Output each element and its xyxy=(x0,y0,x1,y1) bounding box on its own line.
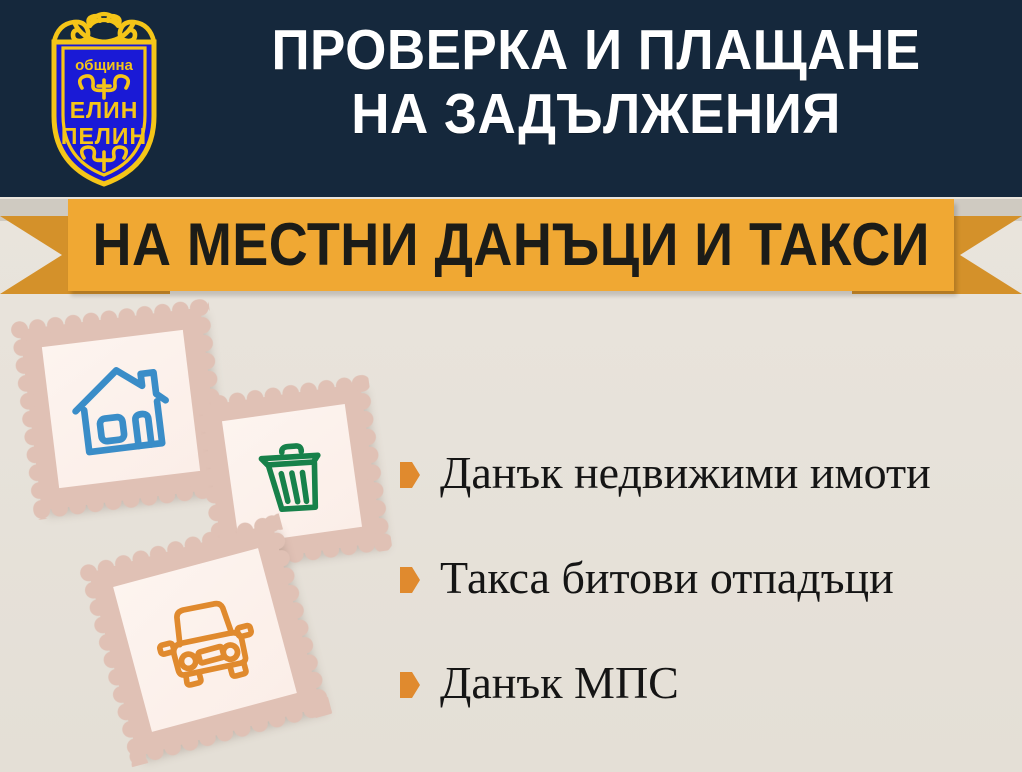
list-item-label: Данък недвижими имоти xyxy=(440,448,931,498)
bullet-arrow-icon xyxy=(400,462,420,488)
tax-type-list: Данък недвижими имоти Такса битови отпад… xyxy=(400,420,1010,735)
list-item[interactable]: Данък МПС xyxy=(400,630,1010,735)
list-item[interactable]: Данък недвижими имоти xyxy=(400,420,1010,525)
bullet-arrow-icon xyxy=(400,672,420,698)
stamp-card-property xyxy=(20,308,223,511)
stamp-card-vehicle xyxy=(89,524,322,757)
list-item-label: Такса битови отпадъци xyxy=(440,553,894,603)
crest-name-line1: ЕЛИН xyxy=(70,97,139,123)
coat-of-arms: община ЕЛИН ПЕЛИН xyxy=(30,8,178,190)
list-item-label: Данък МПС xyxy=(440,658,679,708)
ribbon-banner: НА МЕСТНИ ДАНЪЦИ И ТАКСИ xyxy=(0,199,1022,303)
ribbon-main-panel: НА МЕСТНИ ДАНЪЦИ И ТАКСИ xyxy=(68,199,954,291)
stamp-inner-vehicle xyxy=(113,548,297,732)
car-front-icon xyxy=(138,576,273,704)
list-item[interactable]: Такса битови отпадъци xyxy=(400,525,1010,630)
page-title-line2: НА ЗАДЪЛЖЕНИЯ xyxy=(215,82,978,146)
header-title-group: ПРОВЕРКА И ПЛАЩАНЕ НА ЗАДЪЛЖЕНИЯ xyxy=(186,18,1006,146)
poster-root: община ЕЛИН ПЕЛИН ПРОВЕРКА И ПЛАЩАНЕ НА … xyxy=(0,0,1022,772)
house-icon xyxy=(61,349,181,469)
crest-svg: община ЕЛИН ПЕЛИН xyxy=(30,8,178,190)
header-bar: община ЕЛИН ПЕЛИН ПРОВЕРКА И ПЛАЩАНЕ НА … xyxy=(0,0,1022,197)
bullet-arrow-icon xyxy=(400,567,420,593)
stamp-inner-property xyxy=(42,330,200,488)
trash-bin-icon xyxy=(242,424,341,523)
crest-name-line2: ПЕЛИН xyxy=(61,123,147,149)
stamp-inner-waste xyxy=(222,404,362,544)
page-title-line1: ПРОВЕРКА И ПЛАЩАНЕ xyxy=(215,18,978,82)
crest-top-label: община xyxy=(75,57,133,74)
ribbon-subtitle: НА МЕСТНИ ДАНЪЦИ И ТАКСИ xyxy=(92,215,929,275)
